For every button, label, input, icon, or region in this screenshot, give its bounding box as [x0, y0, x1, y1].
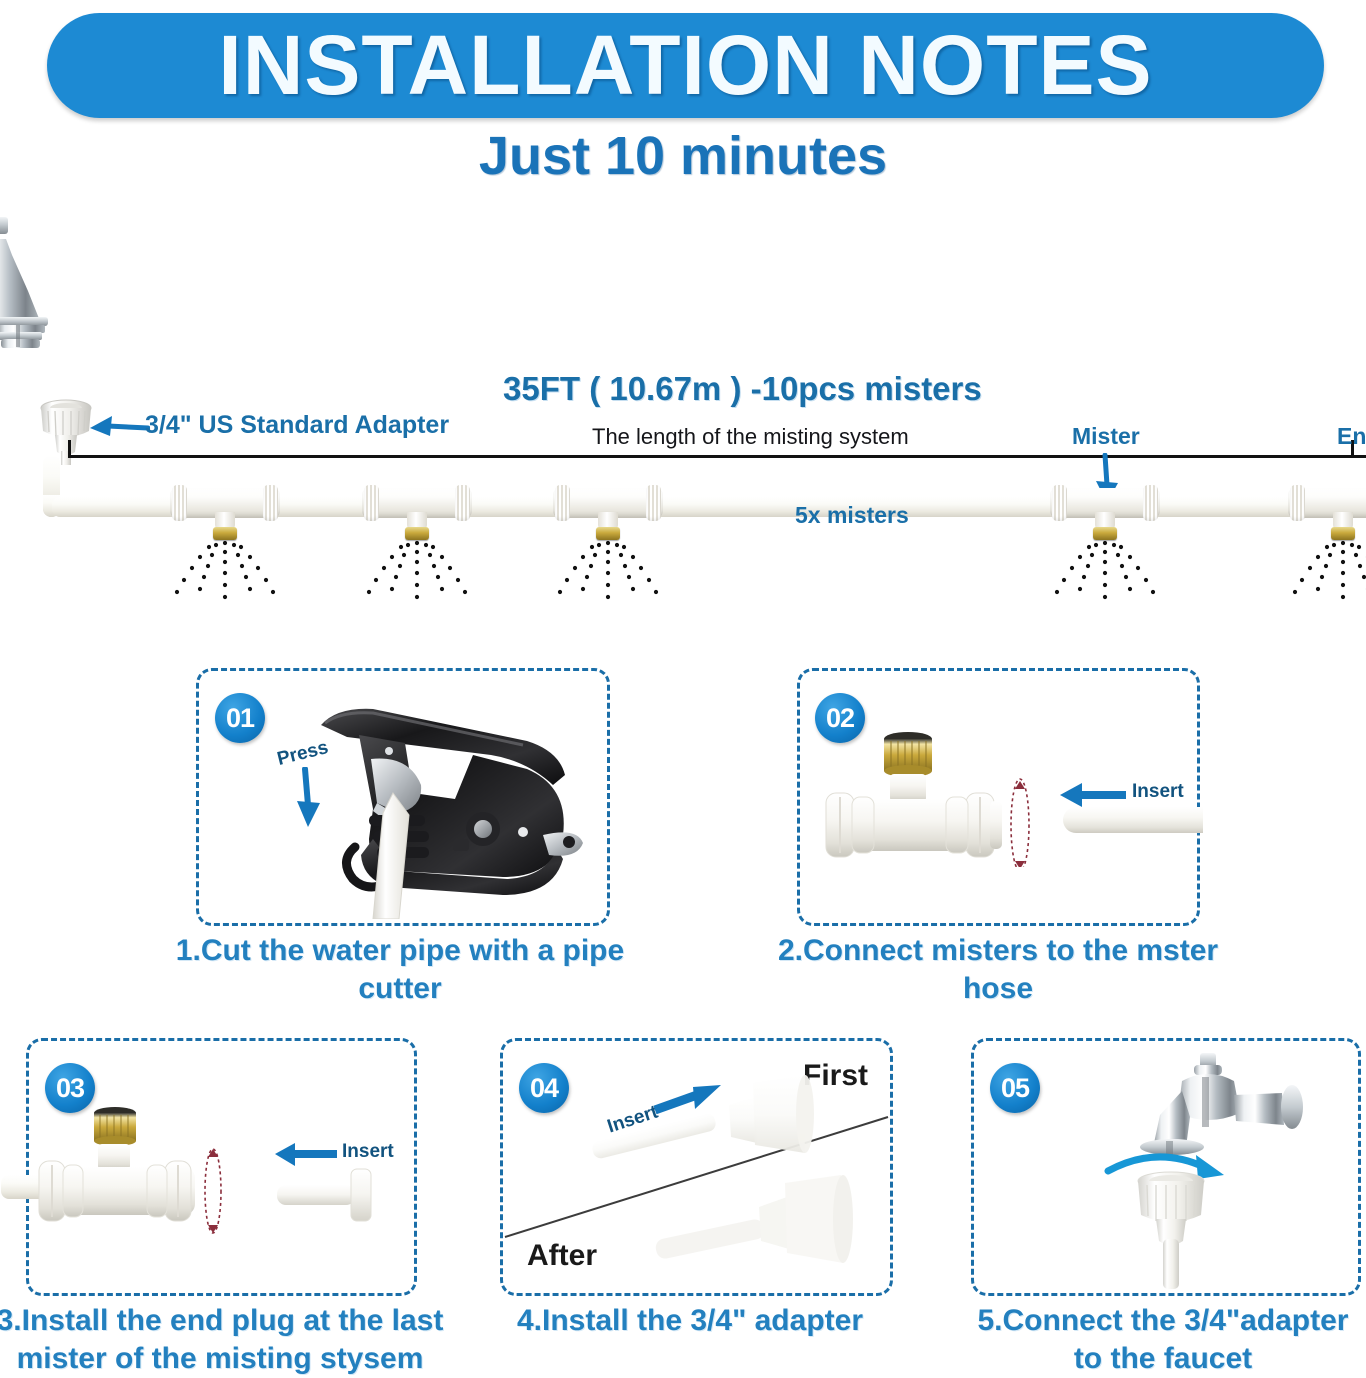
up-right-arrow-icon: [651, 1079, 725, 1119]
brass-nozzle-icon: [1093, 527, 1117, 540]
tee-fitting-icon: [824, 727, 1054, 867]
collar-right: [1143, 485, 1158, 521]
end-label: En: [1337, 423, 1366, 450]
brass-nozzle-icon: [405, 527, 429, 540]
mister-assembly: [362, 488, 472, 543]
brass-nozzle-icon: [213, 527, 237, 540]
spray-mist-icon: [168, 540, 282, 612]
dimension-tick-left: [68, 440, 71, 457]
collar-right: [455, 485, 470, 521]
step-caption-02: 2.Connect misters to the mster hose: [748, 932, 1248, 1008]
step-panel-01: 01: [196, 668, 610, 926]
tee-fitting-icon: [37, 1103, 257, 1239]
spray-mist-icon: [360, 540, 474, 612]
header-banner: INSTALLATION NOTES: [47, 13, 1324, 118]
mister-assembly: [1288, 488, 1366, 543]
misters-group-label: 5x misters: [795, 502, 909, 529]
spray-mist-icon: [551, 540, 665, 612]
collar-left: [555, 485, 570, 521]
collar-left: [1052, 485, 1067, 521]
misting-system-diagram: 3/4" US Standard Adapter 35FT ( 10.67m )…: [0, 205, 1366, 635]
spray-mist-icon: [1286, 540, 1366, 612]
step-panel-04: 04 First After Insert: [500, 1038, 893, 1296]
step-number: 03: [56, 1073, 84, 1104]
mister-assembly: [553, 488, 663, 543]
left-arrow-icon: [86, 410, 150, 444]
brass-nozzle-icon: [596, 527, 620, 540]
insert-label: Insert: [342, 1141, 394, 1163]
step-caption-03: 3.Install the end plug at the last miste…: [0, 1302, 460, 1378]
adapter-assembled-icon: [655, 1173, 895, 1283]
faucet-icon: [1124, 1051, 1324, 1161]
collar-left: [172, 485, 187, 521]
down-arrow-icon: [291, 767, 325, 829]
collar-left: [364, 485, 379, 521]
step-caption-05: 5.Connect the 3/4"adapter to the faucet: [963, 1302, 1363, 1378]
mister-assembly: [1050, 488, 1160, 543]
step-badge-01: 01: [215, 693, 265, 743]
length-subheading: The length of the misting system: [592, 424, 909, 450]
length-heading: 35FT ( 10.67m ) -10pcs misters: [503, 370, 982, 408]
step-panel-02: 02: [797, 668, 1200, 926]
adapter-label: 3/4" US Standard Adapter: [145, 411, 449, 440]
step-number: 05: [1001, 1073, 1029, 1104]
page-title: INSTALLATION NOTES: [47, 13, 1324, 118]
dimension-line-horizontal: [68, 455, 1366, 458]
collar-right: [263, 485, 278, 521]
pipe-segment: [1063, 807, 1203, 833]
step-panel-03: 03: [26, 1038, 417, 1296]
step-caption-01: 1.Cut the water pipe with a pipe cutter: [150, 932, 650, 1008]
insert-label: Insert: [1132, 781, 1184, 803]
mister-assembly: [170, 488, 280, 543]
step-panel-05: 05: [971, 1038, 1361, 1296]
brass-nozzle-icon: [1331, 527, 1355, 540]
collar-left: [1290, 485, 1305, 521]
spray-mist-icon: [1048, 540, 1162, 612]
page-subtitle: Just 10 minutes: [0, 125, 1366, 187]
step-caption-04: 4.Install the 3/4" adapter: [490, 1302, 890, 1340]
faucet-icon: [0, 213, 116, 393]
step-number: 01: [226, 703, 254, 734]
step-badge-05: 05: [990, 1063, 1040, 1113]
end-plug-icon: [275, 1167, 385, 1223]
adapter-icon: [1116, 1171, 1226, 1289]
mister-label: Mister: [1072, 423, 1140, 450]
collar-right: [646, 485, 661, 521]
